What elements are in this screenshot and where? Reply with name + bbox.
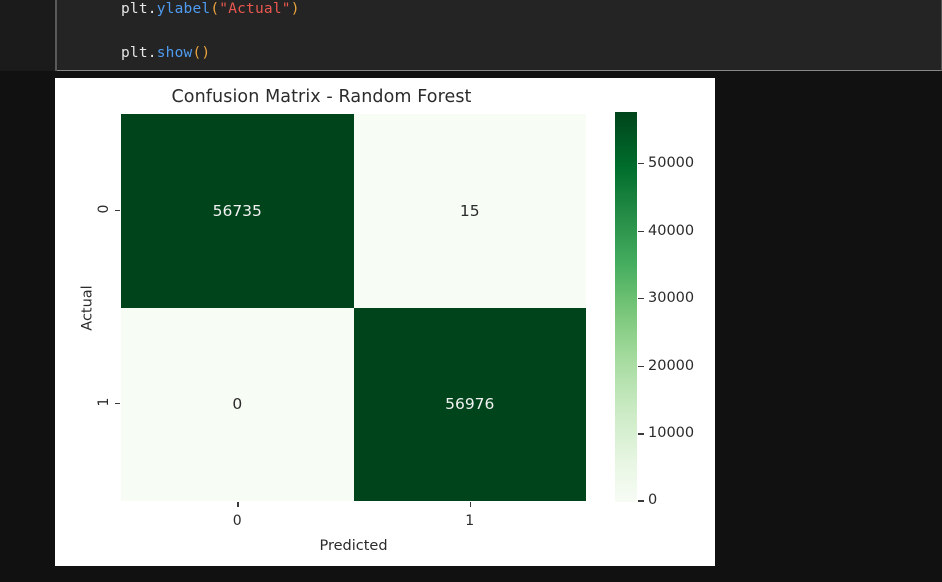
y-tick-label-1: 1 [96, 393, 112, 411]
colorbar: 0 10000 20000 30000 40000 50000 [615, 112, 637, 502]
x-tick-label-1: 1 [460, 513, 480, 529]
matrix-cell-1-0[interactable]: 0 [121, 308, 354, 502]
colorbar-tick-label-5: 50000 [648, 155, 694, 171]
y-axis-label: Actual [80, 285, 96, 330]
x-tick-label-0: 0 [227, 513, 247, 529]
matrix-cell-1-1[interactable]: 56976 [354, 308, 587, 502]
y-tick-mark-0 [115, 210, 120, 211]
matrix-cell-0-1[interactable]: 15 [354, 114, 587, 308]
code-token-open-paren-1: ( [210, 1, 219, 17]
x-tick-mark-0 [237, 502, 238, 507]
matrix-cell-value: 56735 [213, 202, 262, 220]
colorbar-tick-mark-2 [638, 366, 644, 367]
chart-title: Confusion Matrix - Random Forest [55, 87, 588, 107]
x-axis-label: Predicted [121, 538, 586, 554]
colorbar-tick-label-3: 30000 [648, 290, 694, 306]
colorbar-tick-mark-4 [638, 231, 644, 232]
x-tick-mark-1 [470, 502, 471, 507]
matrix-cell-value: 56976 [445, 395, 494, 413]
editor-left-border [55, 0, 57, 71]
screenshot-root: plt.ylabel("Actual") plt.show() Confusio… [0, 0, 942, 582]
matrix-cell-value: 0 [232, 395, 242, 413]
code-line-show[interactable]: plt.show() [121, 45, 210, 61]
editor-gutter [0, 0, 55, 71]
colorbar-tick-label-0: 0 [648, 492, 657, 508]
code-line-ylabel[interactable]: plt.ylabel("Actual") [121, 1, 300, 17]
code-token-string-actual: "Actual" [219, 1, 290, 17]
code-token-plt: plt. [121, 1, 157, 17]
code-token-close-paren-2: ) [201, 45, 210, 61]
colorbar-tick-mark-3 [638, 298, 644, 299]
colorbar-tick-label-1: 10000 [648, 425, 694, 441]
matrix-cell-value: 15 [460, 202, 480, 220]
y-tick-label-0: 0 [96, 200, 112, 218]
colorbar-tick-label-2: 20000 [648, 358, 694, 374]
colorbar-gradient [615, 112, 637, 502]
colorbar-tick-mark-0 [638, 500, 644, 501]
code-token-plt-2: plt. [121, 45, 157, 61]
confusion-matrix-axes: 56735 15 0 56976 0 1 Actual 0 1 Predicte… [121, 114, 586, 501]
colorbar-tick-mark-5 [638, 163, 644, 164]
matrix-cell-0-0[interactable]: 56735 [121, 114, 354, 308]
colorbar-tick-label-4: 40000 [648, 223, 694, 239]
code-token-ylabel: ylabel [157, 1, 211, 17]
matplotlib-figure: Confusion Matrix - Random Forest 56735 1… [55, 78, 715, 566]
colorbar-tick-mark-1 [638, 433, 644, 434]
code-block[interactable]: plt.ylabel("Actual") plt.show() [55, 0, 942, 71]
code-token-close-paren-1: ) [291, 1, 300, 17]
code-token-show: show [157, 45, 193, 61]
confusion-matrix-grid: 56735 15 0 56976 [121, 114, 586, 501]
y-tick-mark-1 [115, 403, 120, 404]
